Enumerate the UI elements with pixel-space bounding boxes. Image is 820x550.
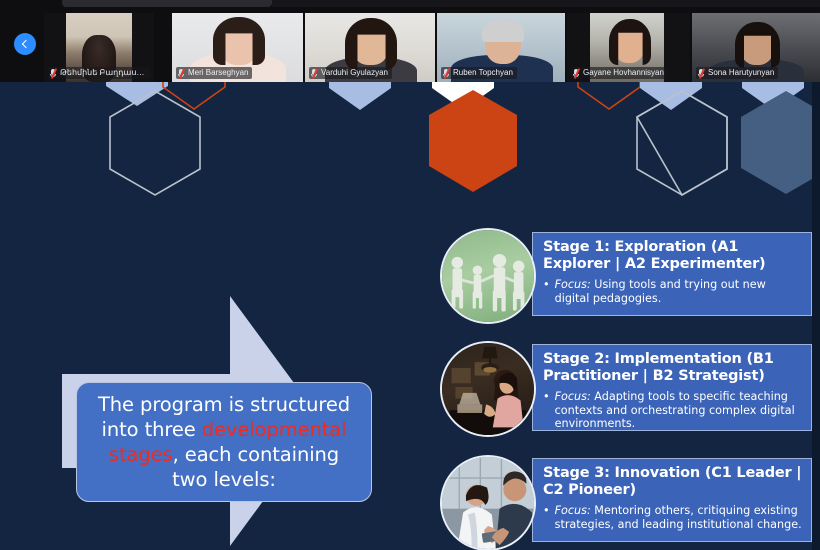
participant-name: Gayane Hovhannisyan xyxy=(583,68,664,78)
hexagon-outline-right-b xyxy=(637,91,727,195)
mic-muted-icon xyxy=(443,69,450,78)
participant-tile[interactable]: Թեհմինե Բաղդասարյան xyxy=(44,13,154,82)
participant-tile[interactable]: Gayane Hovhannisyan xyxy=(567,13,690,82)
hexagon-outline-left xyxy=(110,91,200,195)
office-meeting-illustration xyxy=(442,457,534,549)
mic-muted-icon xyxy=(50,69,57,78)
stage-item-1: Stage 1: Exploration (A1 Explorer | A2 E… xyxy=(440,228,812,324)
hexagon-steel-right xyxy=(741,91,820,194)
participant-hair xyxy=(482,20,524,42)
stage-title: Stage 1: Exploration (A1 Explorer | A2 E… xyxy=(543,239,802,273)
callout-box: The program is structured into three dev… xyxy=(76,382,372,502)
focus-line: Focus: Using tools and trying out new di… xyxy=(555,278,802,305)
focus-label: Focus: xyxy=(555,278,591,291)
participant-nameplate: Թեհմինե Բաղդասարյան xyxy=(48,67,150,79)
bullet-marker: • xyxy=(543,278,550,305)
participant-nameplate: Ruben Topchyan xyxy=(441,67,517,79)
window-titlebar-notch xyxy=(62,0,272,7)
participant-tile[interactable]: Meri Barseghyan xyxy=(172,13,303,82)
window-titlebar-strip xyxy=(272,0,820,7)
mic-muted-icon xyxy=(178,69,185,78)
participant-tile[interactable]: Ruben Topchyan xyxy=(437,13,565,82)
stage-title: Stage 2: Implementation (B1 Practitioner… xyxy=(543,351,802,385)
participant-tile[interactable]: Sona Harutyunyan xyxy=(692,13,820,82)
callout-text: The program is structured into three dev… xyxy=(91,392,357,492)
participant-name: Varduhi Gyulazyan xyxy=(321,68,388,78)
slide-right-gutter xyxy=(812,82,820,550)
hexagon-light-blue-top-mid xyxy=(329,82,391,110)
two-people-meeting-photo xyxy=(440,455,536,550)
focus-label: Focus: xyxy=(555,504,591,517)
stage-title: Stage 3: Innovation (C1 Leader | C2 Pion… xyxy=(543,465,802,499)
mic-muted-icon xyxy=(311,69,318,78)
hexagon-orange-outline-top-right xyxy=(578,82,640,109)
focus-text: Mentoring others, critiquing existing st… xyxy=(555,504,802,531)
shared-slide: The program is structured into three dev… xyxy=(0,82,820,550)
participant-nameplate: Meri Barseghyan xyxy=(176,67,252,79)
stage-card-3[interactable]: Stage 3: Innovation (C1 Leader | C2 Pion… xyxy=(532,458,812,542)
bullet-marker: • xyxy=(543,390,550,431)
zoom-screen-share-window: Թեհմինե Բաղդասարյան Meri Barseghyan xyxy=(0,0,820,550)
participant-nameplate: Gayane Hovhannisyan xyxy=(571,67,668,79)
paper-figures-illustration xyxy=(442,230,534,322)
chevron-left-icon xyxy=(22,40,30,48)
stage-card-1[interactable]: Stage 1: Exploration (A1 Explorer | A2 E… xyxy=(532,232,812,316)
stage-focus: • Focus: Using tools and trying out new … xyxy=(543,278,802,305)
focus-line: Focus: Adapting tools to specific teachi… xyxy=(555,390,802,431)
stage-card-2[interactable]: Stage 2: Implementation (B1 Practitioner… xyxy=(532,344,812,431)
stage-focus: • Focus: Mentoring others, critiquing ex… xyxy=(543,504,802,531)
hexagon-orange-outline-top xyxy=(163,82,225,109)
stage-item-2: Stage 2: Implementation (B1 Practitioner… xyxy=(440,341,812,437)
focus-line: Focus: Mentoring others, critiquing exis… xyxy=(555,504,802,531)
participant-filmstrip: Թեհմինե Բաղդասարյան Meri Barseghyan xyxy=(0,0,820,82)
collapse-filmstrip-button[interactable] xyxy=(14,33,36,55)
hexagon-outline-right xyxy=(637,91,727,195)
woman-at-laptop-evening-photo xyxy=(440,341,536,437)
focus-text: Adapting tools to specific teaching cont… xyxy=(555,390,795,430)
evening-desk-scene-illustration xyxy=(442,343,534,435)
mic-muted-icon xyxy=(573,69,580,78)
bullet-marker: • xyxy=(543,504,550,531)
participant-name: Meri Barseghyan xyxy=(188,68,248,78)
participant-nameplate: Sona Harutyunyan xyxy=(696,67,778,79)
participant-nameplate: Varduhi Gyulazyan xyxy=(309,67,392,79)
participant-name: Թեհմինե Բաղդասարյան xyxy=(60,68,146,78)
participant-name: Sona Harutyunyan xyxy=(708,68,774,78)
stage-focus: • Focus: Adapting tools to specific teac… xyxy=(543,390,802,431)
hexagon-orange-solid xyxy=(429,90,517,192)
mic-muted-icon xyxy=(698,69,705,78)
callout-text-part2: , each containing two levels: xyxy=(172,443,339,491)
focus-label: Focus: xyxy=(555,390,591,403)
stage-item-3: Stage 3: Innovation (C1 Leader | C2 Pion… xyxy=(440,455,812,550)
paper-people-holding-hands-photo xyxy=(440,228,536,324)
hexagon-light-blue-top-right xyxy=(640,82,702,110)
participant-tile[interactable]: Varduhi Gyulazyan xyxy=(305,13,435,82)
participant-name: Ruben Topchyan xyxy=(453,68,513,78)
